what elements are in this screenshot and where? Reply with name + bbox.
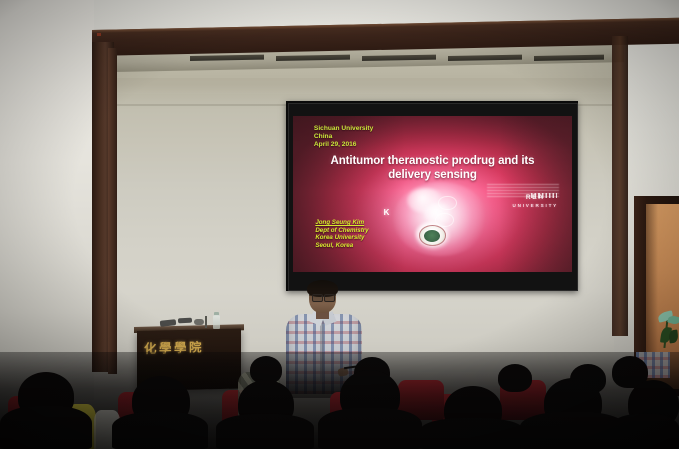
water-bottle <box>213 315 220 329</box>
microphone-head-icon <box>194 319 204 325</box>
presentation-slide: K Sichuan University China April 29, 201… <box>293 116 572 272</box>
eyeglasses-icon <box>324 294 335 302</box>
proscenium-left-inner-edge <box>108 48 117 374</box>
slide-author-dept: Dept of Chemistry <box>315 227 368 235</box>
proscenium-right-column <box>612 36 628 336</box>
slide-ring-marker <box>438 196 457 210</box>
slide-title-line-2: delivery sensing <box>313 169 553 183</box>
slide-author-city: Seoul, Korea <box>315 242 368 250</box>
slide-author-block: Jong Seung Kim Dept of Chemistry Korea U… <box>315 219 368 249</box>
audience-shoulders <box>610 414 679 449</box>
microphone-stem <box>205 316 207 328</box>
stage-wall-upper-band <box>114 78 614 94</box>
audience-shoulders <box>216 414 314 449</box>
slide-venue-date: April 29, 2016 <box>314 141 373 149</box>
audience-head <box>498 364 532 392</box>
crest-inner <box>424 230 440 242</box>
left-white-wall <box>0 0 94 400</box>
slide-author-university: Korea University <box>315 234 368 242</box>
audience-shoulders <box>112 412 208 449</box>
slide-venue-block: Sichuan University China April 29, 2016 <box>314 125 373 150</box>
microphone-icon <box>178 318 192 324</box>
audience-shoulders <box>420 418 524 449</box>
slide-logo-letter: K <box>384 208 390 217</box>
slide-author-name: Jong Seung Kim <box>315 219 368 227</box>
slide-venue-country: China <box>314 133 373 141</box>
university-crest-icon <box>419 225 446 246</box>
logo-sub-text: UNIVERSITY <box>512 203 558 208</box>
logo-main-text: REA <box>512 194 558 201</box>
eyeglasses-bridge <box>321 296 324 297</box>
audience-shoulders <box>318 408 422 449</box>
beam-marker-dot <box>97 33 101 36</box>
slide-title-line-1: Antitumor theranostic prodrug and its <box>313 155 553 169</box>
audience-shoulders <box>0 406 92 449</box>
lecture-hall-photo: K Sichuan University China April 29, 201… <box>0 0 679 449</box>
slide-title: Antitumor theranostic prodrug and its de… <box>313 155 553 182</box>
slide-venue-university: Sichuan University <box>314 125 373 133</box>
korea-university-logo: REA UNIVERSITY <box>512 194 558 208</box>
